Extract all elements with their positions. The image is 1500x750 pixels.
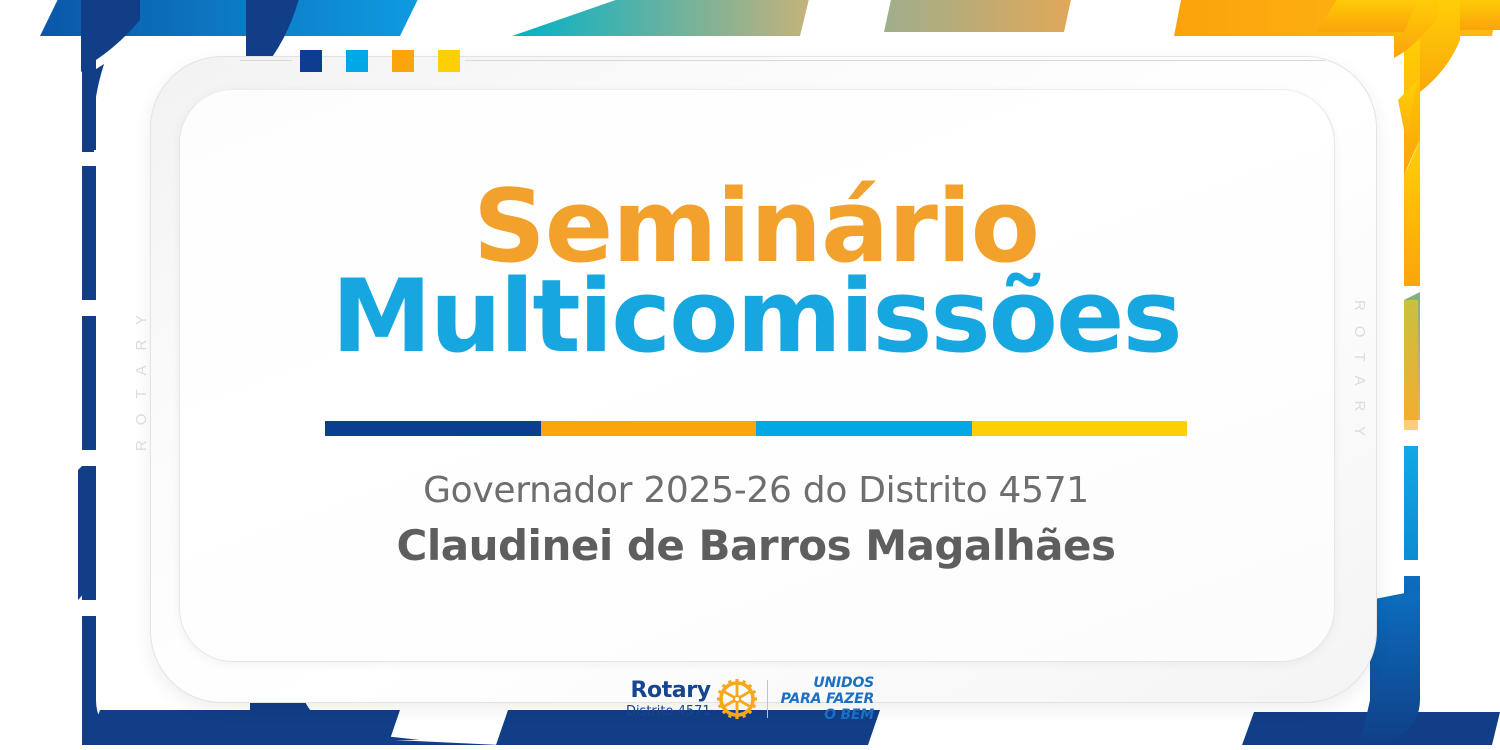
dot-light-blue-icon <box>346 50 368 72</box>
rule-segment-yellow <box>972 421 1188 436</box>
dot-orange-icon <box>392 50 414 72</box>
subtitle-name: Claudinei de Barros Magalhães <box>397 521 1116 570</box>
title-line-multicomissoes: Multicomissões <box>331 269 1180 365</box>
rotary-district-label: Distrito 4571 <box>626 705 711 718</box>
rotary-brand-name: Rotary <box>630 680 710 702</box>
tagline-line-1: UNIDOS <box>781 675 874 691</box>
dot-yellow-icon <box>438 50 460 72</box>
subtitle-role: Governador 2025-26 do Distrito 4571 <box>397 470 1116 511</box>
rotary-wheel-icon <box>717 679 757 719</box>
rule-segment-light-blue <box>756 421 972 436</box>
corner-dot-group <box>300 50 460 72</box>
divider-rule-right <box>465 60 1325 61</box>
rule-segment-orange <box>541 421 757 436</box>
four-color-rule <box>325 421 1187 436</box>
tagline-line-3: O BEM <box>781 707 874 723</box>
footer-logo-lockup: Rotary Distrito 4571 <box>0 675 1500 723</box>
rotary-wordmark: Rotary Distrito 4571 <box>626 680 711 718</box>
divider-rule-left <box>240 60 292 61</box>
poster-content: Seminário Multicomissões Governador 2025… <box>179 89 1333 660</box>
logo-divider <box>767 680 768 718</box>
poster-subtitle: Governador 2025-26 do Distrito 4571 Clau… <box>397 470 1116 570</box>
poster-canvas: ROTARY ROTARY Seminário Multicomissões G… <box>0 0 1500 750</box>
poster-title: Seminário Multicomissões <box>331 179 1180 365</box>
dot-dark-blue-icon <box>300 50 322 72</box>
tagline-line-2: PARA FAZER <box>781 691 874 707</box>
rule-segment-dark-blue <box>325 421 541 436</box>
rotary-tagline: UNIDOS PARA FAZER O BEM <box>781 675 874 723</box>
